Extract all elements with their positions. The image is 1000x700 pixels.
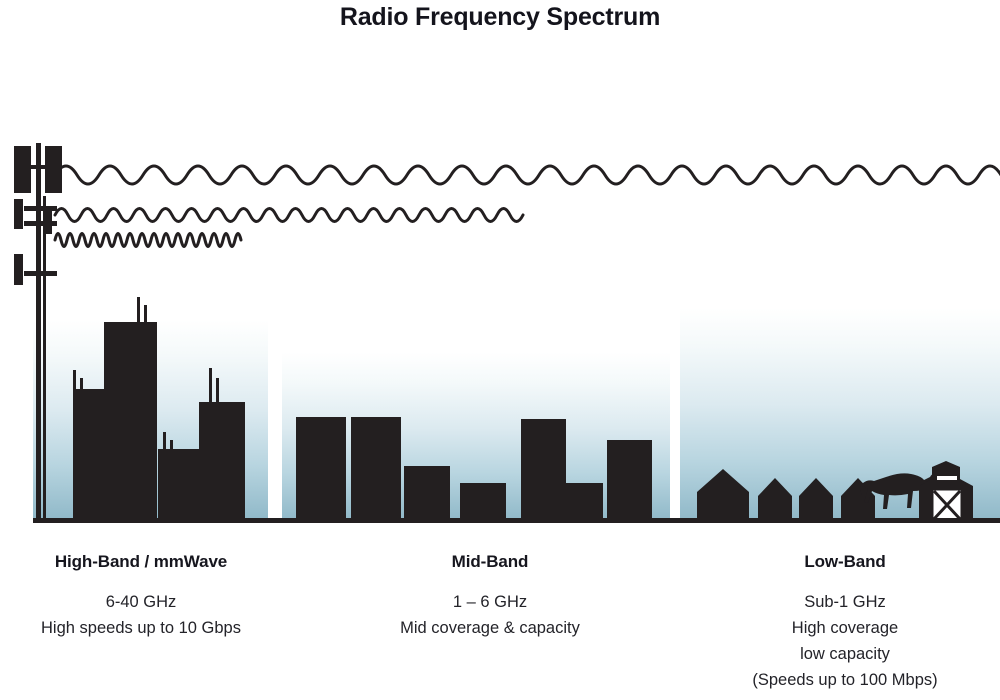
tower-antenna-panel-3 [14, 199, 23, 229]
ground-line [33, 518, 1000, 523]
tower-antenna-panel-4 [46, 210, 52, 234]
barn-hayloft-window [937, 476, 957, 480]
building [351, 417, 401, 521]
building [607, 440, 652, 521]
tower-antenna-panel-5 [14, 254, 23, 285]
band-labels: High-Band / mmWave 6-40 GHz High speeds … [0, 544, 1000, 700]
building [296, 417, 346, 521]
band-description-high-band: 6-40 GHz High speeds up to 10 Gbps [0, 572, 282, 641]
band-desc-line: Sub-1 GHz [690, 575, 1000, 615]
band-label-low-band: Low-Band Sub-1 GHz High coverage low cap… [690, 544, 1000, 693]
band-title-low-band: Low-Band [690, 544, 1000, 572]
low-band-wave [55, 166, 1000, 184]
band-label-mid-band: Mid-Band 1 – 6 GHz Mid coverage & capaci… [340, 544, 640, 641]
band-label-high-band: High-Band / mmWave 6-40 GHz High speeds … [0, 544, 282, 641]
building [73, 389, 108, 521]
band-desc-line: High coverage [690, 615, 1000, 641]
building [199, 402, 245, 521]
band-desc-line: (Speeds up to 100 Mbps) [690, 667, 1000, 693]
band-description-low-band: Sub-1 GHz High coverage low capacity (Sp… [690, 572, 1000, 693]
high-band-wave [55, 234, 241, 247]
tower-crossbar-3 [24, 221, 57, 226]
building [158, 449, 199, 521]
band-title-high-band: High-Band / mmWave [0, 544, 282, 572]
spectrum-figure [0, 0, 1000, 545]
building [521, 419, 566, 521]
tower-antenna-panel-1 [14, 146, 31, 193]
infographic-root: Radio Frequency Spectrum [0, 0, 1000, 700]
tower-crossbar-2 [24, 206, 57, 211]
band-description-mid-band: 1 – 6 GHz Mid coverage & capacity [340, 572, 640, 641]
tower-antenna-panel-2 [45, 146, 62, 193]
tower-mast-secondary [43, 196, 46, 522]
building-spire [209, 368, 212, 406]
tower-crossbar-4 [24, 271, 57, 276]
building-spire [137, 297, 140, 325]
band-title-mid-band: Mid-Band [340, 544, 640, 572]
tower-mast [36, 143, 41, 522]
spectrum-svg [0, 0, 1000, 545]
band-desc-line: 1 – 6 GHz [340, 575, 640, 615]
mid-band-wave [55, 209, 523, 222]
building [404, 466, 450, 521]
band-desc-line: 6-40 GHz [0, 575, 282, 615]
building [460, 483, 506, 521]
building [104, 322, 157, 521]
band-desc-line: High speeds up to 10 Gbps [0, 615, 282, 641]
band-desc-line: low capacity [690, 641, 1000, 667]
building [566, 483, 603, 521]
building-spire [216, 378, 219, 406]
band-desc-line: Mid coverage & capacity [340, 615, 640, 641]
